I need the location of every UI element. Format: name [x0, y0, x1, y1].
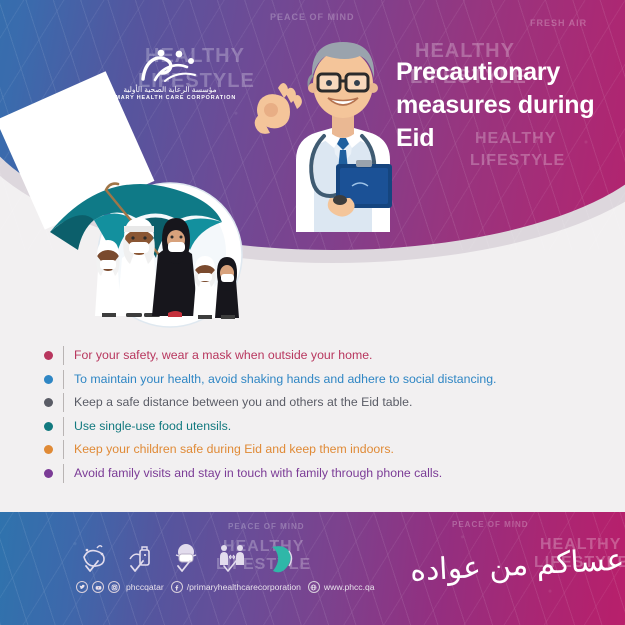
- hand-sanitizer-icon: [124, 541, 156, 573]
- globe-icon[interactable]: [308, 581, 320, 593]
- twitter-icon[interactable]: [76, 581, 88, 593]
- bullet-divider: [63, 440, 64, 459]
- phcc-swoosh-logo-icon: [135, 48, 205, 82]
- page-title: Precautionary measures during Eid: [396, 56, 606, 155]
- family-member-boy: [193, 256, 217, 319]
- precautionary-measures-list: For your safety, wear a mask when outsid…: [44, 344, 604, 485]
- bullet-dot: [44, 445, 53, 454]
- instagram-icon[interactable]: [108, 581, 120, 593]
- infographic-poster: HEALTHY LIFESTYLE HEALTHY LIFESTYLE PEAC…: [0, 0, 625, 625]
- facebook-icon[interactable]: [171, 581, 183, 593]
- youtube-icon[interactable]: [92, 581, 104, 593]
- measure-text: For your safety, wear a mask when outsid…: [74, 348, 372, 363]
- measure-text: Avoid family visits and stay in touch wi…: [74, 466, 442, 481]
- wear-mask-icon: [170, 541, 202, 573]
- doodle-word: PEACE OF MIND: [452, 520, 529, 529]
- doodle-word: FRESH AIR: [530, 18, 587, 28]
- social-distancing-icon: [216, 541, 248, 573]
- ok-hand-icon: [255, 83, 302, 134]
- bullet-divider: [63, 464, 64, 483]
- bullet-dot: [44, 398, 53, 407]
- footer-health-icons: [78, 541, 296, 573]
- doodle-word: PEACE OF MIND: [270, 12, 355, 22]
- phcc-logo: مؤسسة الرعاية الصحية الأولية PRIMARY HEA…: [100, 48, 240, 102]
- social-handle[interactable]: phccqatar: [126, 582, 164, 592]
- measure-text: Keep your children safe during Eid and k…: [74, 442, 394, 457]
- measure-item: Use single-use food utensils.: [44, 415, 604, 439]
- measure-item: Keep your children safe during Eid and k…: [44, 438, 604, 462]
- bullet-divider: [63, 346, 64, 365]
- bullet-dot: [44, 422, 53, 431]
- face-mask-icon: [262, 541, 296, 573]
- handwashing-icon: [78, 541, 110, 573]
- logo-arabic-text: مؤسسة الرعاية الصحية الأولية: [100, 85, 240, 94]
- measure-text: To maintain your health, avoid shaking h…: [74, 372, 496, 387]
- measure-item: For your safety, wear a mask when outsid…: [44, 344, 604, 368]
- bullet-divider: [63, 417, 64, 436]
- bullet-dot: [44, 375, 53, 384]
- measure-item: To maintain your health, avoid shaking h…: [44, 368, 604, 392]
- logo-english-text: PRIMARY HEALTH CARE CORPORATION: [100, 95, 240, 102]
- doodle-word: PEACE OF MIND: [228, 522, 305, 531]
- bullet-dot: [44, 469, 53, 478]
- family-member-boy-small: [95, 240, 121, 317]
- umbrella-family-illustration: [40, 160, 270, 340]
- social-media-line: phccqatar /primaryhealthcarecorporation …: [76, 581, 375, 593]
- bullet-dot: [44, 351, 53, 360]
- website-url[interactable]: www.phcc.qa: [324, 582, 375, 592]
- bullet-divider: [63, 393, 64, 412]
- bullet-divider: [63, 370, 64, 389]
- facebook-page[interactable]: /primaryhealthcarecorporation: [187, 582, 301, 592]
- measure-text: Keep a safe distance between you and oth…: [74, 395, 412, 410]
- family-member-girl: [215, 257, 239, 319]
- measure-item: Keep a safe distance between you and oth…: [44, 391, 604, 415]
- measure-text: Use single-use food utensils.: [74, 419, 231, 434]
- measure-item: Avoid family visits and stay in touch wi…: [44, 462, 604, 486]
